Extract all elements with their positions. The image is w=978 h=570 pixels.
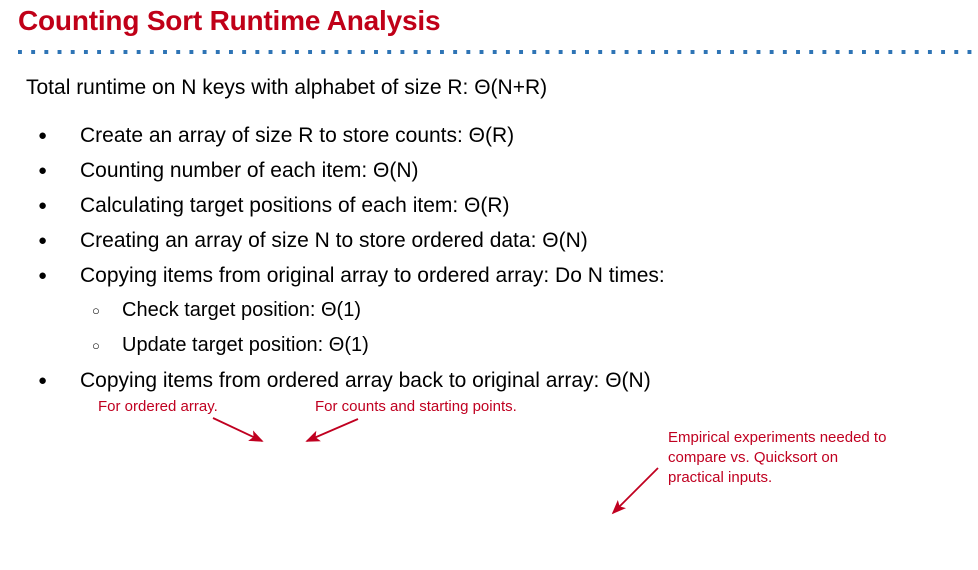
sub-list-item-label: Check target position: Θ(1) (122, 293, 361, 328)
sub-list-item: ○ Update target position: Θ(1) (0, 328, 978, 363)
list-item-label: Create an array of size R to store count… (80, 118, 514, 153)
arrow-ordered-array (213, 418, 262, 441)
title-divider (18, 50, 978, 54)
page-title: Counting Sort Runtime Analysis (18, 5, 440, 37)
bullet-hollow-icon: ○ (92, 328, 100, 363)
list-item: ● Calculating target positions of each i… (0, 188, 978, 223)
list-item: ● Copying items from original array to o… (0, 258, 978, 293)
bullet-filled-icon: ● (38, 118, 47, 153)
list-item: ● Copying items from ordered array back … (0, 363, 978, 398)
arrow-counts-points (307, 419, 358, 441)
list-item-label: Copying items from original array to ord… (80, 258, 665, 293)
list-item-label: Copying items from ordered array back to… (80, 363, 651, 398)
bullet-filled-icon: ● (38, 153, 47, 188)
annotation-empirical-line-1: Empirical experiments needed to (668, 428, 968, 448)
bullet-filled-icon: ● (38, 363, 47, 398)
list-item-label: Calculating target positions of each ite… (80, 188, 510, 223)
annotation-ordered-array: For ordered array. (98, 397, 218, 417)
bullet-filled-icon: ● (38, 223, 47, 258)
list-item: ● Create an array of size R to store cou… (0, 118, 978, 153)
sub-list-item: ○ Check target position: Θ(1) (0, 293, 978, 328)
list-item-label: Counting number of each item: Θ(N) (80, 153, 418, 188)
bullet-hollow-icon: ○ (92, 293, 100, 328)
intro-statement: Total runtime on N keys with alphabet of… (26, 75, 547, 101)
bullet-list: ● Create an array of size R to store cou… (0, 118, 978, 398)
list-item: ● Creating an array of size N to store o… (0, 223, 978, 258)
annotation-empirical-line-3: practical inputs. (668, 468, 968, 488)
list-item: ● Counting number of each item: Θ(N) (0, 153, 978, 188)
annotation-counts-points: For counts and starting points. (315, 397, 517, 417)
arrow-empirical (613, 468, 658, 513)
annotation-empirical: Empirical experiments needed to compare … (668, 428, 968, 488)
bullet-filled-icon: ● (38, 258, 47, 293)
sub-list-item-label: Update target position: Θ(1) (122, 328, 369, 363)
bullet-filled-icon: ● (38, 188, 47, 223)
annotation-empirical-line-2: compare vs. Quicksort on (668, 448, 968, 468)
list-item-label: Creating an array of size N to store ord… (80, 223, 588, 258)
